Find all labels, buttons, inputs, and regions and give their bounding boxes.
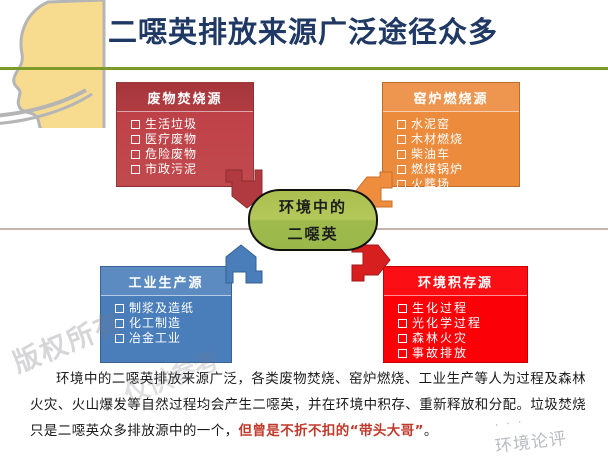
list-item: 冶金工业	[115, 331, 231, 346]
source-box-industry-header: 工业生产源	[101, 267, 231, 296]
list-item: 柴油车	[397, 147, 519, 162]
page-title: 二噁英排放来源广泛途径众多	[108, 12, 498, 52]
source-box-industry-list: 制浆及造纸 化工制造 冶金工业	[101, 296, 231, 350]
list-item-label: 生活垃圾	[145, 117, 197, 131]
center-node-environmental-dioxin[interactable]: 环境中的 二噁英	[248, 189, 378, 251]
list-item-label: 医疗废物	[145, 132, 197, 146]
list-item-label: 水泥窑	[411, 117, 450, 131]
list-item-label: 市政污泥	[145, 162, 197, 176]
checkbox-icon	[131, 120, 140, 129]
arrow-industry-to-center-icon	[224, 243, 266, 285]
list-item-label: 化工制造	[129, 316, 181, 330]
checkbox-icon	[397, 120, 406, 129]
checkbox-icon	[397, 180, 406, 189]
checkbox-icon	[115, 304, 124, 313]
title-bar: 二噁英排放来源广泛途径众多	[0, 12, 608, 62]
list-item: 化工制造	[115, 316, 231, 331]
checkbox-icon	[131, 135, 140, 144]
checkbox-icon	[398, 334, 407, 343]
checkbox-icon	[115, 334, 124, 343]
list-item-label: 冶金工业	[129, 331, 181, 345]
checkbox-icon	[397, 165, 406, 174]
list-item: 木材燃烧	[397, 132, 519, 147]
list-item-label: 生化过程	[412, 301, 468, 315]
checkbox-icon	[397, 150, 406, 159]
source-box-industrial-production[interactable]: 工业生产源 制浆及造纸 化工制造 冶金工业	[100, 266, 232, 363]
slide-canvas: 二噁英排放来源广泛途径众多 废物焚烧源 生活垃圾 医疗废物 危险废物 市政污泥 …	[0, 0, 608, 458]
source-box-kiln-list: 水泥窑 木材燃烧 柴油车 燃煤锅炉 火葬场	[383, 112, 519, 196]
list-item-label: 光化学过程	[412, 316, 482, 330]
checkbox-icon	[131, 165, 140, 174]
source-box-accumulation-list: 生化过程 光化学过程 森林火灾 事故排放	[384, 296, 527, 365]
checkbox-icon	[131, 150, 140, 159]
list-item-label: 燃煤锅炉	[411, 162, 463, 176]
list-item: 事故排放	[398, 346, 527, 361]
checkbox-icon	[115, 319, 124, 328]
list-item: 危险废物	[131, 147, 253, 162]
source-box-waste-header: 废物焚烧源	[117, 83, 253, 112]
list-item: 制浆及造纸	[115, 301, 231, 316]
footer-text-part3: 。	[424, 423, 438, 439]
footer-text-highlight: 但曾是不折不扣的“带头大哥”	[239, 423, 424, 439]
list-item-label: 火葬场	[411, 177, 450, 191]
list-item-label: 森林火灾	[412, 331, 468, 345]
list-item: 森林火灾	[398, 331, 527, 346]
divider-green	[0, 67, 608, 70]
checkbox-icon	[398, 304, 407, 313]
source-box-environmental-accumulation[interactable]: 环境积存源 生化过程 光化学过程 森林火灾 事故排放	[383, 266, 528, 363]
list-item-label: 木材燃烧	[411, 132, 463, 146]
list-item-label: 柴油车	[411, 147, 450, 161]
checkbox-icon	[398, 349, 407, 358]
list-item: 光化学过程	[398, 316, 527, 331]
source-box-accumulation-header: 环境积存源	[384, 267, 527, 296]
source-box-kiln-header: 窑炉燃烧源	[383, 83, 519, 112]
list-item: 生活垃圾	[131, 117, 253, 132]
list-item-label: 制浆及造纸	[129, 301, 194, 315]
list-item: 火葬场	[397, 177, 519, 192]
list-item-label: 事故排放	[412, 346, 468, 360]
list-item-label: 危险废物	[145, 147, 197, 161]
list-item: 水泥窑	[397, 117, 519, 132]
checkbox-icon	[397, 135, 406, 144]
source-box-kiln-combustion[interactable]: 窑炉燃烧源 水泥窑 木材燃烧 柴油车 燃煤锅炉 火葬场	[382, 82, 520, 187]
list-item: 生化过程	[398, 301, 527, 316]
list-item: 医疗废物	[131, 132, 253, 147]
footer-paragraph: 环境中的二噁英排放来源广泛，各类废物焚烧、窑炉燃烧、工业生产等人为过程及森林火灾…	[30, 366, 586, 444]
center-node-line1: 环境中的	[250, 194, 376, 221]
center-node-line2: 二噁英	[250, 221, 376, 248]
checkbox-icon	[398, 319, 407, 328]
list-item: 燃煤锅炉	[397, 162, 519, 177]
